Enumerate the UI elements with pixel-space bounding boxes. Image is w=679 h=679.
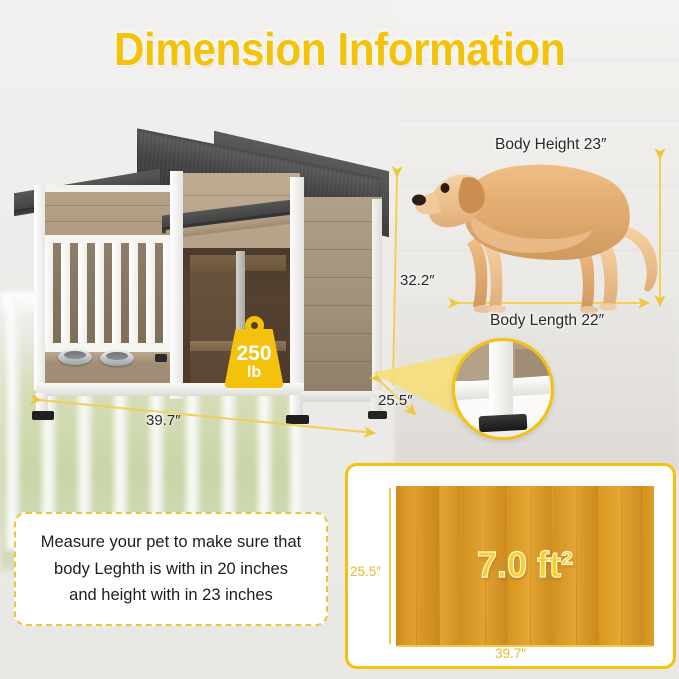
dog-photo — [405, 130, 679, 330]
dog-body-length-label: Body Length 22″ — [490, 312, 604, 330]
measurement-note-box: Measure your pet to make sure that body … — [14, 512, 328, 626]
note-line-3: and height with in 23 inches — [69, 586, 273, 604]
floor-width-label: 39.7″ — [348, 646, 673, 661]
magnifier-rubber-foot — [479, 414, 528, 432]
rubber-foot-magnifier — [452, 338, 554, 440]
house-width-label: 39.7″ — [146, 412, 181, 429]
house-depth-label: 25.5″ — [378, 392, 413, 409]
floor-height-arrow — [389, 488, 391, 644]
magnifier-leg — [489, 341, 513, 423]
floor-area-value: 7.0 ft² — [396, 544, 654, 586]
note-line-2: body Leghth is with in 20 inches — [54, 560, 288, 578]
infographic-canvas: Dimension Information — [0, 0, 679, 679]
dog-body-height-label: Body Height 23″ — [495, 136, 606, 154]
note-line-1: Measure your pet to make sure that — [41, 533, 301, 551]
floor-area-panel: 7.0 ft² 25.5″ 39.7″ — [345, 463, 676, 669]
floor-height-label: 25.5″ — [350, 564, 381, 579]
